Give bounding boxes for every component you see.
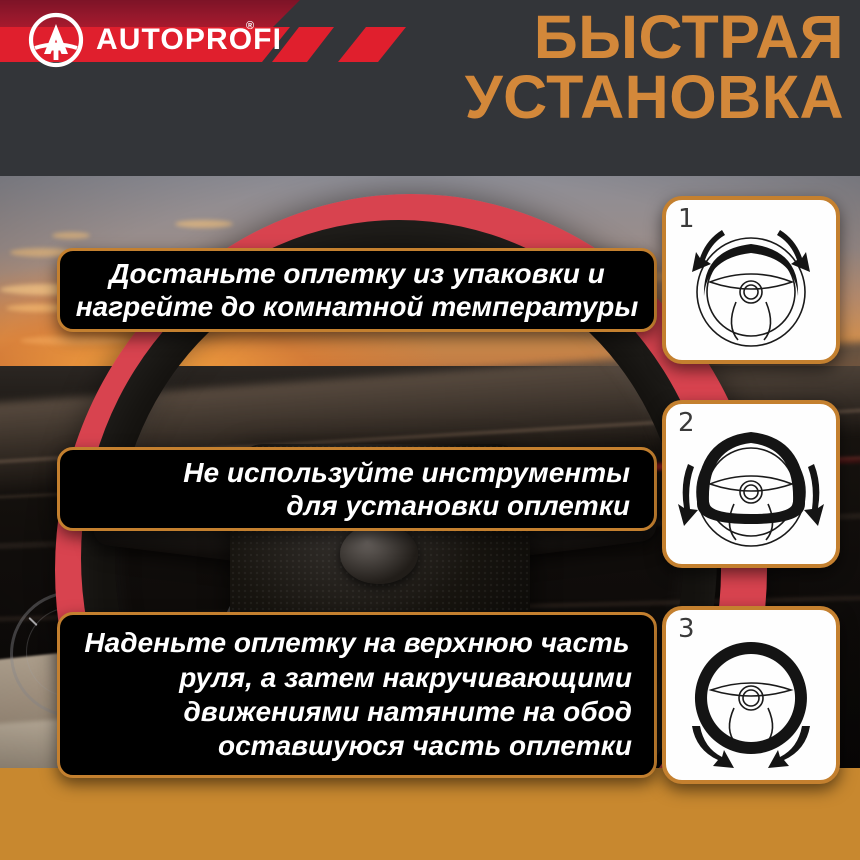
steering-wheel-full-cover-curved-arrows-icon — [666, 610, 836, 780]
poster-canvas: AUTOPROFI ® БЫСТРАЯ УСТАНОВКА Достаньте … — [0, 0, 860, 860]
instruction-line: движениями натяните на обод — [184, 695, 633, 729]
step-card-1: 1 — [662, 196, 840, 364]
instruction-line: Не используйте инструменты — [183, 456, 630, 489]
horn-badge — [340, 524, 418, 584]
instruction-line: нагрейте до комнатной температуры — [76, 290, 639, 323]
step-card-2: 2 — [662, 400, 840, 568]
registered-mark: ® — [246, 20, 254, 32]
instruction-line: для установки оплетки — [286, 489, 630, 522]
instruction-box-1: Достаньте оплетку из упаковки и нагрейте… — [57, 248, 657, 332]
step-card-3: 3 — [662, 606, 840, 784]
page-title-line1: БЫСТРАЯ — [284, 8, 844, 68]
instruction-line: оставшуюся часть оплетки — [218, 729, 632, 763]
header-bar: AUTOPROFI ® БЫСТРАЯ УСТАНОВКА — [0, 0, 860, 176]
instruction-box-3: Наденьте оплетку на верхнюю часть руля, … — [57, 612, 657, 778]
page-title: БЫСТРАЯ УСТАНОВКА — [284, 8, 844, 128]
steering-wheel-partial-cover-down-arrows-icon — [666, 404, 836, 564]
instruction-box-2: Не используйте инструменты для установки… — [57, 447, 657, 531]
instruction-line: Наденьте оплетку на верхнюю часть — [84, 626, 629, 660]
instruction-line: Достаньте оплетку из упаковки и — [109, 257, 605, 290]
autoprofi-logo-icon[interactable] — [28, 12, 84, 68]
steering-wheel-top-arc-arrows-icon — [666, 200, 836, 360]
page-title-line2: УСТАНОВКА — [284, 68, 844, 128]
brand-wordmark: AUTOPROFI — [96, 25, 282, 55]
instruction-line: руля, а затем накручивающими — [179, 661, 632, 695]
